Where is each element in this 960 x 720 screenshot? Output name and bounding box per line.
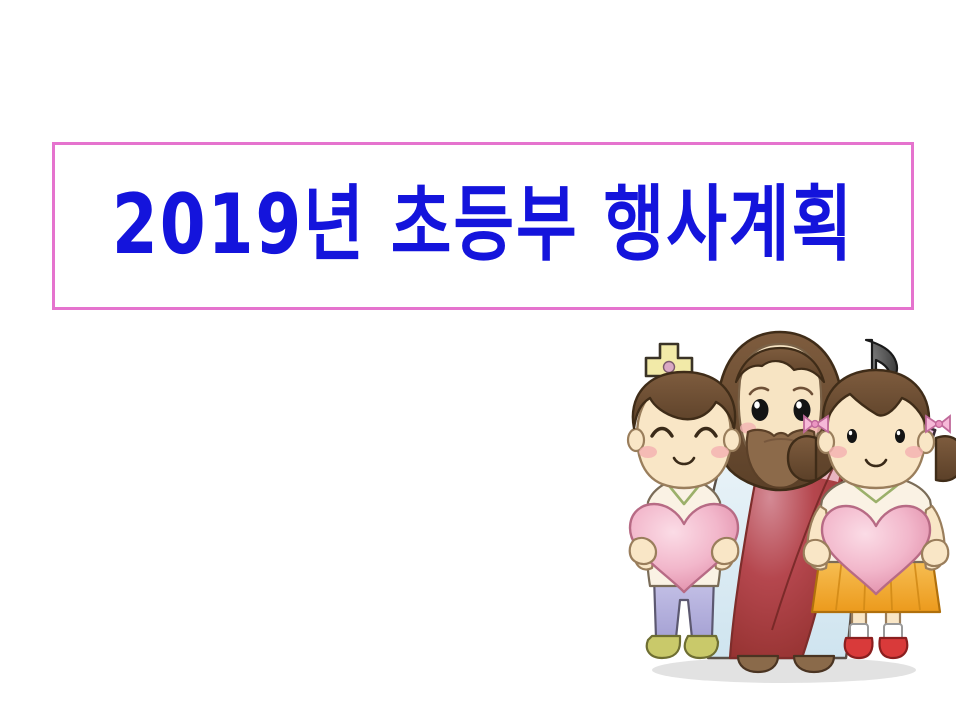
boy-hand-right bbox=[712, 538, 738, 564]
girl-pigtail-right bbox=[936, 436, 956, 481]
girl-hand-left bbox=[804, 540, 830, 566]
girl-eye-right bbox=[895, 429, 905, 443]
girl-shoe-right bbox=[880, 638, 908, 658]
jesus-eye-right bbox=[794, 399, 811, 421]
boy-hand-left bbox=[630, 538, 656, 564]
girl-eye-left bbox=[847, 429, 857, 443]
girl-pigtail-left bbox=[788, 436, 816, 481]
jesus-eye-left bbox=[752, 399, 769, 421]
title-box: 2019년 초등부 행사계획 bbox=[52, 142, 914, 310]
slide-canvas: 2019년 초등부 행사계획 bbox=[0, 0, 960, 720]
illustration-jesus-with-two-children bbox=[608, 318, 956, 690]
girl-hand-right bbox=[922, 540, 948, 566]
girl-shoe-left bbox=[845, 638, 873, 658]
ground-shadow bbox=[652, 657, 916, 683]
page-title: 2019년 초등부 행사계획 bbox=[68, 127, 898, 325]
boy-shoe-right bbox=[685, 636, 718, 658]
boy-shoe-left bbox=[647, 636, 680, 658]
girl-bow-right bbox=[926, 416, 950, 432]
